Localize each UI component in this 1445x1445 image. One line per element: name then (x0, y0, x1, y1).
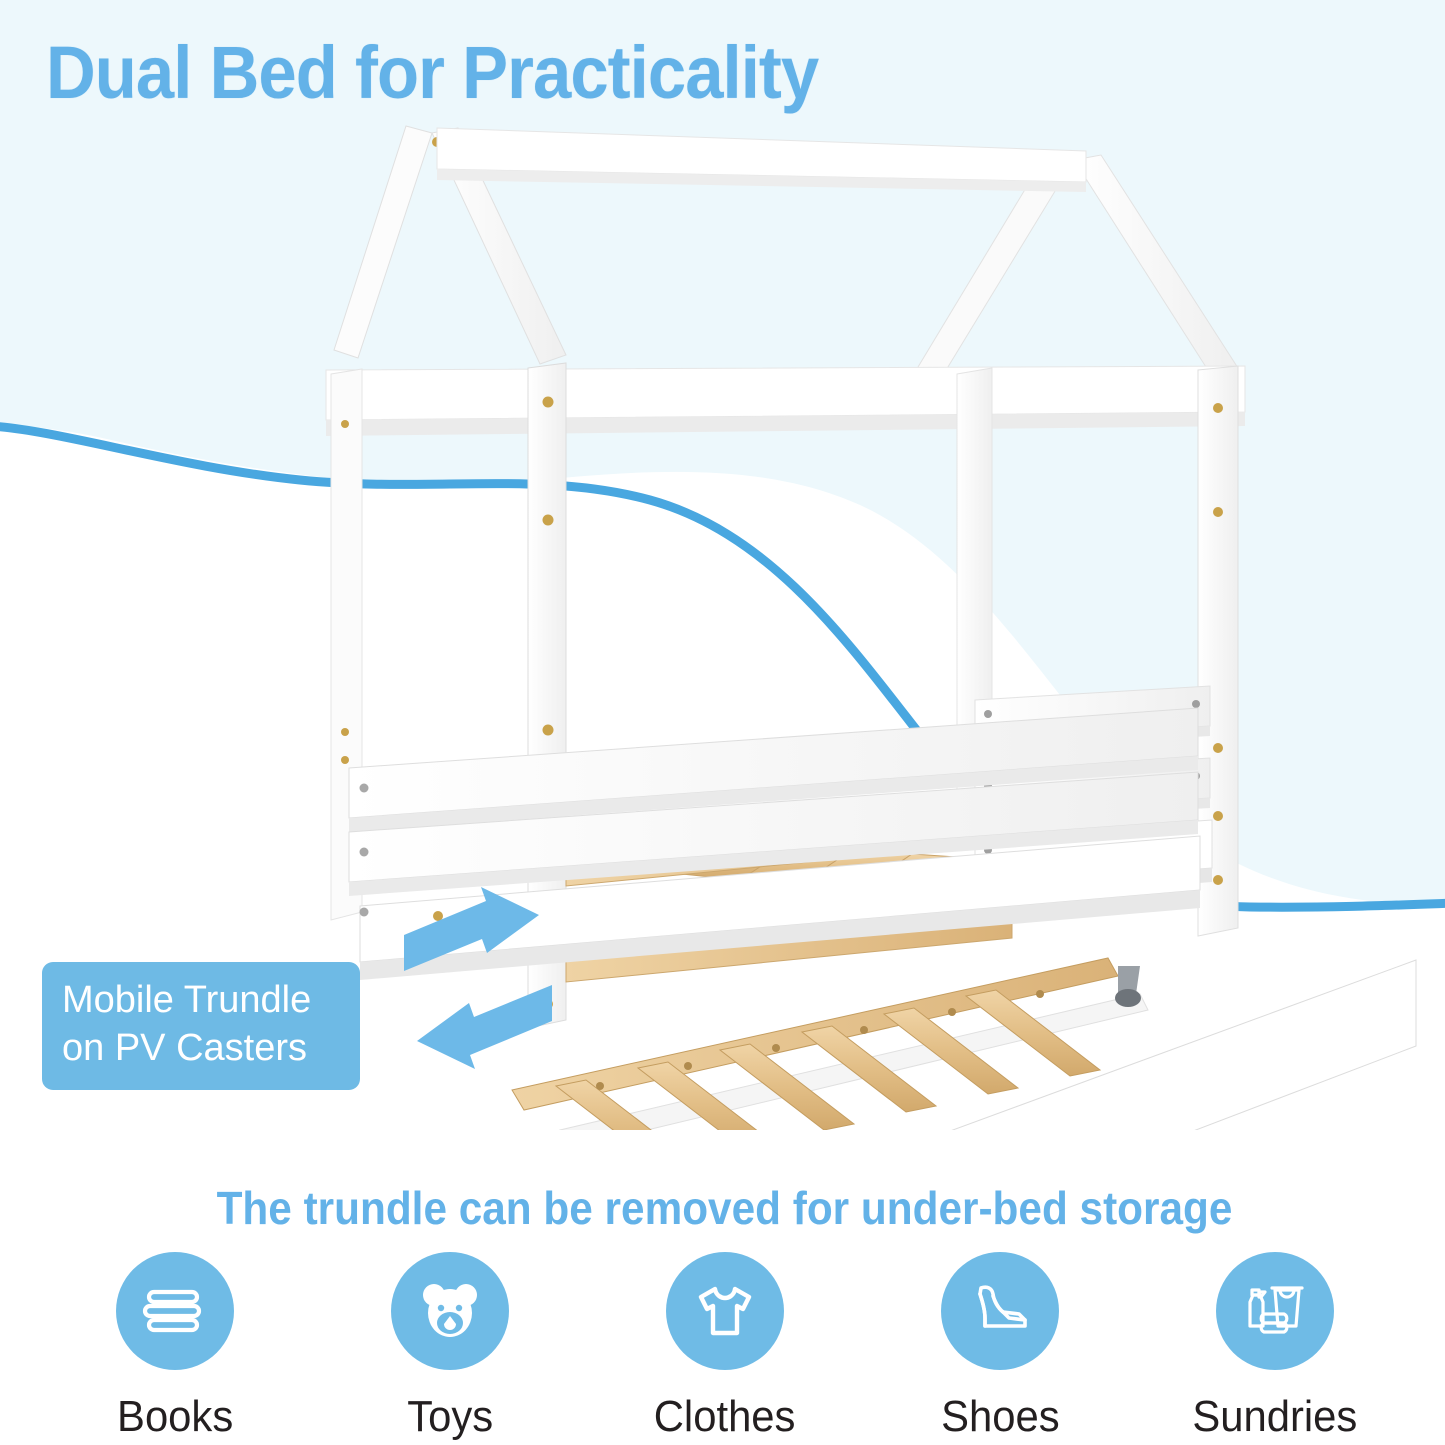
upper-cross-rail (326, 366, 1245, 436)
roof-ridge-beam (437, 128, 1086, 192)
mobile-trundle-badge: Mobile Trundle on PV Casters (42, 962, 360, 1090)
cleaning-supplies-icon (1216, 1252, 1334, 1370)
page-title: Dual Bed for Practicality (46, 30, 1292, 116)
storage-item-label: Clothes (654, 1392, 796, 1442)
high-heel-shoe-icon (941, 1252, 1059, 1370)
storage-item-label: Books (117, 1392, 233, 1442)
badge-line-2: on PV Casters (62, 1024, 342, 1072)
storage-subtitle: The trundle can be removed for under-bed… (106, 1180, 1343, 1236)
storage-item-shoes: Shoes (885, 1252, 1115, 1442)
books-icon (116, 1252, 234, 1370)
bed-frame (326, 126, 1416, 1130)
tshirt-icon (666, 1252, 784, 1370)
storage-item-label: Sundries (1192, 1392, 1357, 1442)
storage-item-books: Books (60, 1252, 290, 1442)
storage-item-sundries: Sundries (1160, 1252, 1390, 1442)
storage-item-clothes: Clothes (610, 1252, 840, 1442)
badge-line-1: Mobile Trundle (62, 976, 342, 1024)
infographic-page: Dual Bed for Practicality (0, 0, 1445, 1445)
pv-caster-wheel (1115, 966, 1141, 1007)
storage-item-label: Toys (407, 1392, 493, 1442)
storage-item-label: Shoes (941, 1392, 1060, 1442)
storage-item-toys: Toys (335, 1252, 565, 1442)
teddy-bear-icon (391, 1252, 509, 1370)
storage-items-row: Books Toys (60, 1252, 1390, 1442)
